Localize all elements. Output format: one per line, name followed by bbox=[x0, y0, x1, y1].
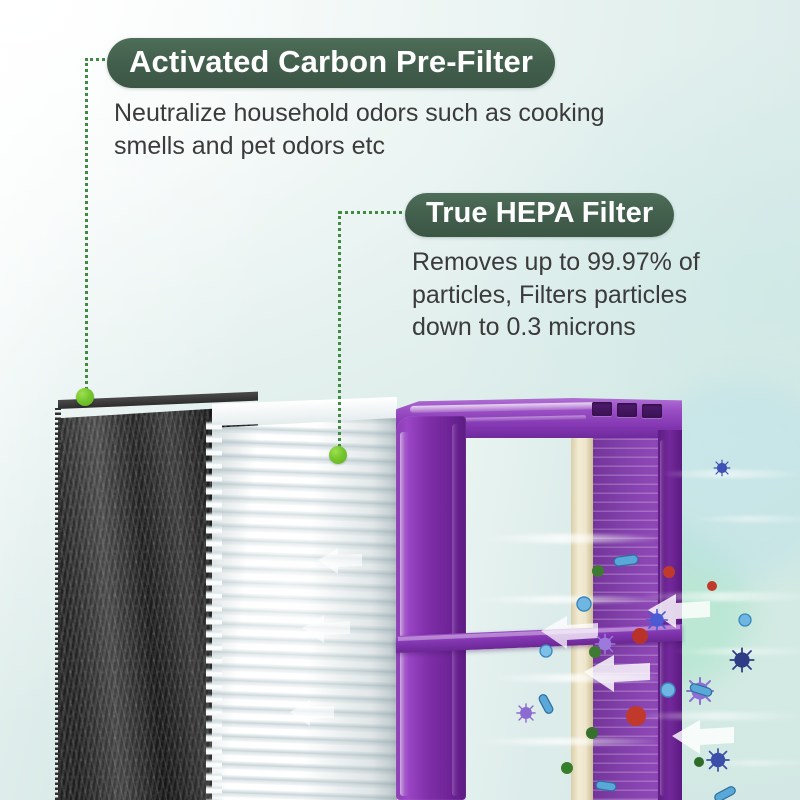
frame-left-gloss bbox=[400, 432, 409, 796]
badge-activated-carbon: Activated Carbon Pre-Filter bbox=[107, 38, 555, 88]
callout-activated-carbon: Activated Carbon Pre-Filter Neutralize h… bbox=[107, 38, 605, 162]
vent-slot-1 bbox=[592, 402, 612, 416]
marker-dot-carbon bbox=[76, 388, 94, 406]
frame-left-gloss-2 bbox=[452, 424, 459, 796]
carbon-fiber-edge bbox=[55, 408, 61, 800]
infographic-canvas: Activated Carbon Pre-Filter Neutralize h… bbox=[0, 0, 800, 800]
description-true-hepa: Removes up to 99.97% of particles, Filte… bbox=[412, 246, 700, 344]
badge-true-hepa: True HEPA Filter bbox=[405, 193, 674, 237]
marker-dot-hepa bbox=[329, 446, 347, 464]
frame-window bbox=[466, 438, 680, 800]
vent-slot-3 bbox=[642, 404, 662, 418]
callout-true-hepa: True HEPA Filter Removes up to 99.97% of… bbox=[405, 193, 700, 344]
description-activated-carbon: Neutralize household odors such as cooki… bbox=[114, 97, 605, 162]
frame-right-gloss bbox=[660, 440, 665, 796]
vent-slot-2 bbox=[617, 403, 637, 417]
